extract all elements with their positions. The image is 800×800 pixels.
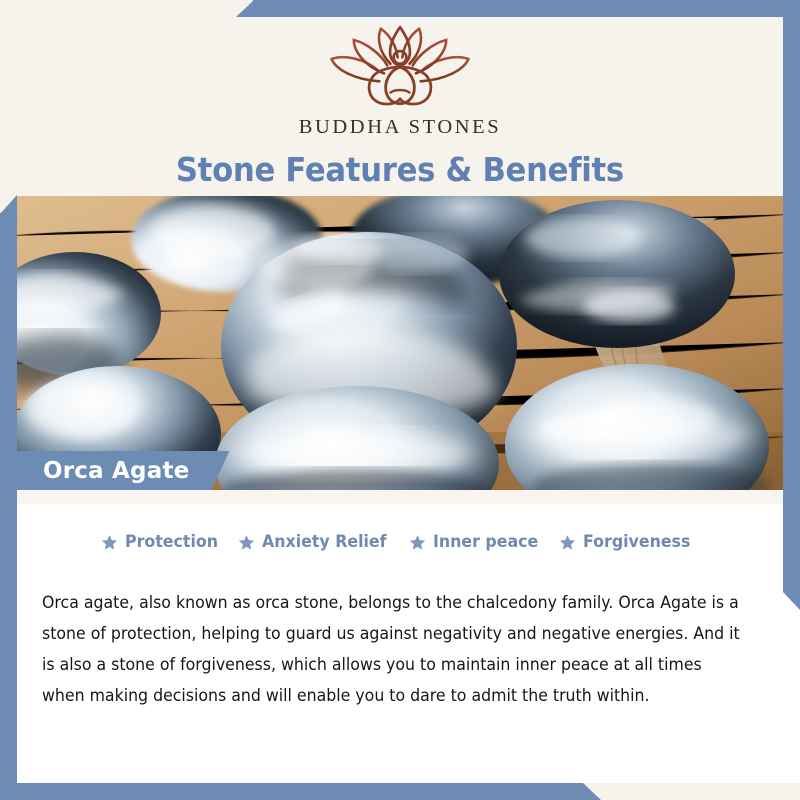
benefit-label: Protection [125, 532, 218, 552]
frame-border-left [0, 213, 17, 783]
frame-border-bottom-bevel [583, 783, 601, 800]
benefit-label: Forgiveness [583, 532, 690, 552]
frame-border-bottom [0, 783, 583, 800]
stone-photo [17, 196, 783, 490]
frame-border-left-bevel [0, 195, 17, 214]
benefit-item-anxiety-relief: Anxiety Relief [238, 532, 396, 552]
star-icon [559, 534, 576, 551]
panel-top-strip [17, 490, 800, 504]
stone-description: Orca agate, also known as orca stone, be… [42, 587, 749, 711]
benefit-item-protection: Protection [101, 532, 225, 552]
page-title-banner: Stone Features & Benefits [163, 142, 637, 196]
lotus-meditation-icon [320, 24, 480, 110]
star-icon [409, 534, 426, 551]
stone-name-tag: Orca Agate [17, 451, 229, 490]
brand-wordmark: BUDDHA STONES [299, 116, 502, 139]
frame-border-top [253, 0, 800, 17]
star-icon [101, 534, 118, 551]
frame-border-top-bevel [236, 0, 254, 17]
benefits-list: Protection Anxiety Relief Inner peace Fo… [17, 532, 783, 552]
benefit-item-forgiveness: Forgiveness [559, 532, 698, 552]
benefit-item-inner-peace: Inner peace [409, 532, 546, 552]
benefit-label: Inner peace [433, 532, 538, 552]
content-panel: Protection Anxiety Relief Inner peace Fo… [17, 490, 800, 783]
stone-name-label: Orca Agate [43, 458, 189, 484]
stone-info-poster: BUDDHA STONES [0, 0, 800, 800]
frame-border-right [783, 0, 800, 592]
star-icon [238, 534, 255, 551]
benefit-label: Anxiety Relief [262, 532, 387, 552]
page-title: Stone Features & Benefits [176, 150, 624, 189]
